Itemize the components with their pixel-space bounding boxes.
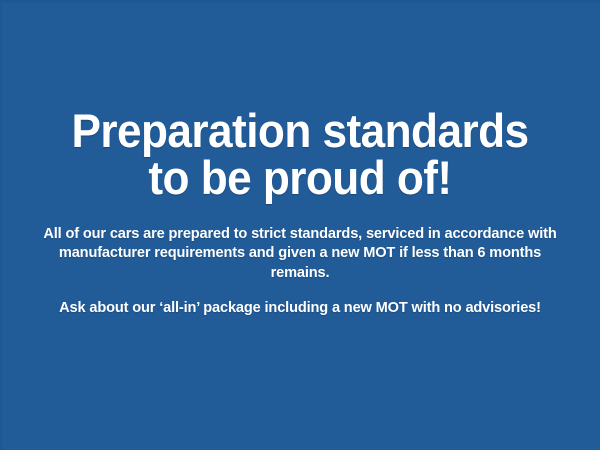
all-in-package-callout-text: Ask about our ‘all-in’ package including… [40,299,560,318]
preparation-description-text: All of our cars are prepared to strict s… [40,225,560,283]
banner-body: All of our cars are prepared to strict s… [14,225,586,319]
preparation-standards-banner: Preparation standards to be proud of! Al… [0,0,600,450]
headline-line-1: Preparation standards [31,108,569,155]
headline-line-2: to be proud of! [31,155,569,202]
banner-headline: Preparation standards to be proud of! [31,108,569,201]
top-edge-strip [0,0,600,3]
banner-content: Preparation standards to be proud of! Al… [0,108,600,319]
